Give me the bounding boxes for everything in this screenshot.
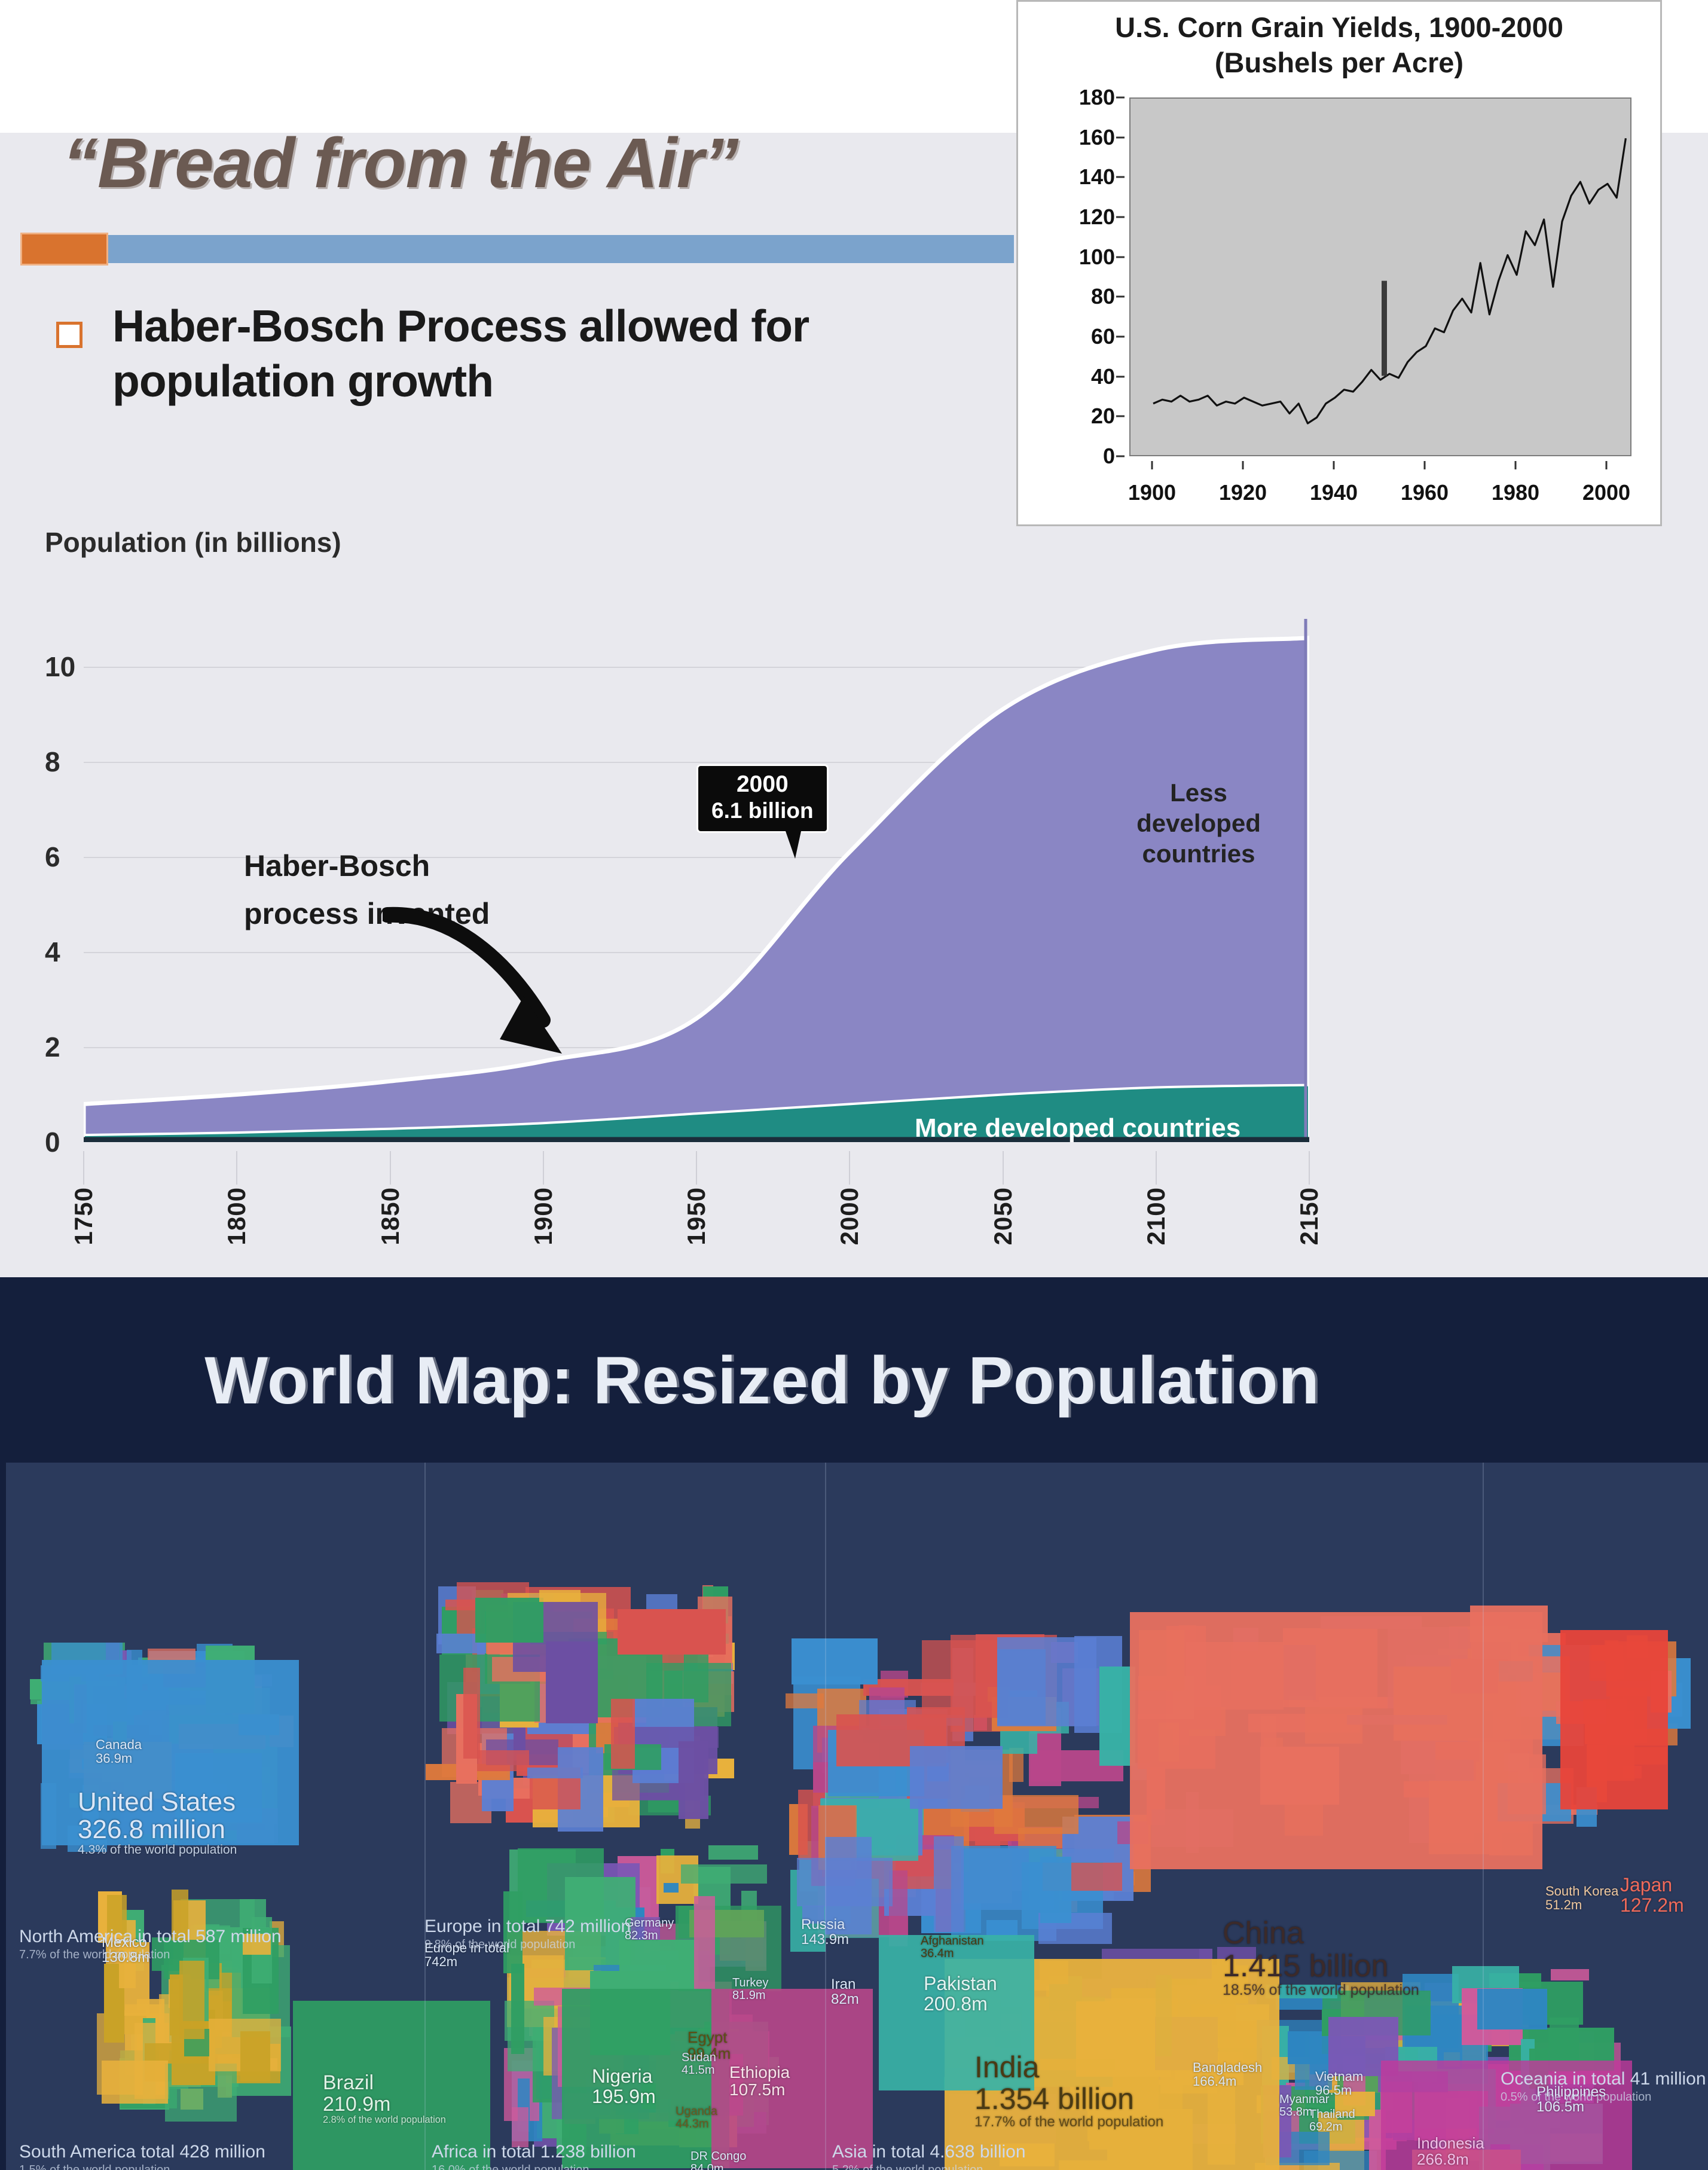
corn-y-tick-label: 100 [1079, 245, 1115, 270]
map-region-divider [424, 1463, 426, 2170]
corn-chart-title-line1: U.S. Corn Grain Yields, 1900-2000 [1115, 11, 1563, 43]
continent-total-share: 0.5% of the world population [1501, 2090, 1706, 2104]
map-country-label: United States326.8 million4.3% of the wo… [78, 1789, 237, 1857]
country-population: 107.5m [729, 2081, 790, 2098]
country-population: 1.354 billion [974, 2083, 1163, 2115]
corn-x-tick [1424, 461, 1426, 469]
title-accent-bar [20, 235, 1014, 263]
country-name: United States [78, 1789, 237, 1816]
continent-total-share: 5.2% of the world population [832, 2163, 1026, 2170]
bullet-text: Haber-Bosch Process allowed for populati… [112, 299, 1033, 408]
country-population-share: 18.5% of the world population [1223, 1982, 1419, 1998]
population-cartogram: United States326.8 million4.3% of the wo… [6, 1463, 1708, 2170]
continent-total-share: 1.5% of the world population [19, 2163, 265, 2170]
corn-chart-subtitle: (Bushels per Acre) [1215, 47, 1463, 78]
country-population: 44.3m [676, 2118, 717, 2131]
corn-y-tick-label: 20 [1091, 404, 1115, 429]
map-region-divider [825, 1463, 826, 2170]
population-x-tick-label: 2100 [1142, 1187, 1171, 1245]
corn-y-tick [1116, 296, 1125, 298]
continent-total-text: North America in total 587 million [19, 1927, 282, 1946]
population-x-tick-label: 2050 [989, 1187, 1018, 1245]
country-population: 84.0m [690, 2163, 746, 2170]
country-name: Turkey [732, 1977, 768, 1989]
map-country-label: Germany82.3m [625, 1917, 674, 1942]
map-country-label: Indonesia266.8m [1417, 2135, 1484, 2168]
world-map-title-bar: World Map: Resized by Population [6, 1277, 1708, 1463]
corn-x-tick [1606, 461, 1608, 469]
country-population: 36.9m [96, 1751, 142, 1765]
corn-y-tick [1116, 136, 1125, 138]
corn-y-tick-label: 140 [1079, 164, 1115, 190]
continent-total-text: Asia in total 4.638 billion [832, 2142, 1026, 2162]
continent-total-text: Africa in total 1.238 billion [432, 2142, 636, 2162]
corn-y-tick [1116, 376, 1125, 377]
country-name: Indonesia [1417, 2135, 1484, 2151]
corn-x-tick-label: 1900 [1128, 480, 1176, 505]
country-name: Nigeria [592, 2067, 656, 2087]
population-x-tick-label: 1750 [69, 1187, 98, 1245]
map-country-label: Uganda44.3m [676, 2105, 717, 2131]
continent-total-text: Oceania in total 41 million [1501, 2069, 1706, 2089]
country-name: Bangladesh [1193, 2061, 1262, 2074]
country-name: Canada [96, 1738, 142, 1751]
corn-y-tick-label: 0 [1103, 444, 1115, 469]
corn-x-tick [1515, 461, 1517, 469]
country-name: Vietnam [1315, 2070, 1363, 2083]
country-population: 127.2m [1620, 1896, 1684, 1916]
map-country-label: Sudan41.5m [682, 2052, 716, 2077]
population-x-tick [1309, 1151, 1310, 1185]
country-population: 36.4m [921, 1948, 984, 1960]
country-name: India [974, 2052, 1163, 2083]
continent-total-text: South America total 428 million [19, 2142, 265, 2162]
country-population-share: 4.3% of the world population [78, 1844, 237, 1857]
corn-plot-area [1129, 97, 1631, 456]
continent-total-text: Europe in total 742 million [424, 1916, 631, 1936]
country-name: DR Congo [690, 2150, 746, 2163]
country-name: Iran [831, 1977, 859, 1992]
population-y-tick-label: 6 [45, 841, 60, 873]
map-country-label: India1.354 billion17.7% of the world pop… [974, 2052, 1163, 2129]
country-population: 82.3m [625, 1930, 674, 1942]
country-population: 195.9m [592, 2087, 656, 2107]
continent-total-share: 9.8% of the world population [424, 1937, 631, 1952]
continent-total-share: 16.0% of the world population [432, 2163, 636, 2170]
country-population: 82m [831, 1992, 859, 2007]
series-label-less-developed: Less developed countries [1112, 777, 1285, 869]
country-population: 210.9m [323, 2094, 446, 2116]
map-country-label: Afghanistan36.4m [921, 1935, 984, 1960]
continent-total-share: 7.7% of the world population [19, 1948, 282, 1962]
continent-total-label: North America in total 587 million7.7% o… [19, 1926, 282, 1962]
population-x-tick-label: 2150 [1295, 1187, 1324, 1245]
country-population: 53.8m [1279, 2106, 1329, 2119]
population-x-tick [236, 1151, 237, 1185]
country-name: Pakistan [924, 1974, 997, 1994]
bullet-marker-icon [56, 322, 83, 348]
population-x-tick-label: 1900 [529, 1187, 558, 1245]
continent-total-label: South America total 428 million1.5% of t… [19, 2141, 265, 2170]
population-axis-title: Population (in billions) [45, 526, 341, 558]
population-x-tick [390, 1151, 391, 1185]
population-y-tick-label: 8 [45, 746, 60, 778]
corn-x-tick-label: 1920 [1219, 480, 1267, 505]
world-map-title: World Map: Resized by Population [6, 1342, 1518, 1419]
corn-x-tick-label: 2000 [1582, 480, 1630, 505]
slide-bread-from-the-air: “Bread from the Air” Haber-Bosch Process… [0, 0, 1708, 1277]
corn-x-tick [1151, 461, 1153, 469]
population-x-tick [1156, 1151, 1157, 1185]
country-population: 326.8 million [78, 1816, 237, 1844]
population-x-tick [83, 1151, 84, 1185]
map-region-divider [1483, 1463, 1484, 2170]
corn-x-axis: 190019201940196019802000 [1129, 461, 1631, 521]
corn-y-tick [1116, 456, 1125, 457]
corn-y-tick-label: 120 [1079, 205, 1115, 230]
corn-y-tick-label: 80 [1091, 284, 1115, 309]
corn-y-tick [1116, 216, 1125, 218]
corn-y-tick-label: 60 [1091, 324, 1115, 349]
corn-y-tick-label: 160 [1079, 125, 1115, 150]
country-population: 166.4m [1193, 2074, 1262, 2088]
corn-y-tick [1116, 256, 1125, 258]
corn-y-tick-label: 40 [1091, 364, 1115, 389]
population-callout: 2000 6.1 billion [696, 764, 829, 833]
country-population: 200.8m [924, 1994, 997, 2015]
map-country-label: South Korea51.2m [1545, 1884, 1618, 1912]
country-name: South Korea [1545, 1884, 1618, 1898]
population-x-tick [543, 1151, 544, 1185]
page-title: “Bread from the Air” [63, 123, 1079, 212]
country-name: Brazil [323, 2073, 446, 2094]
corn-yield-chart: U.S. Corn Grain Yields, 1900-2000 (Bushe… [1016, 0, 1662, 526]
country-name: China [1223, 1917, 1419, 1950]
series-label-more-developed: More developed countries [915, 1113, 1240, 1143]
population-y-tick-label: 10 [45, 651, 75, 683]
continent-total-label: Europe in total 742 million9.8% of the w… [424, 1916, 631, 1952]
map-country-label: Turkey81.9m [732, 1977, 768, 2002]
country-population: 69.2m [1309, 2121, 1355, 2134]
corn-y-tick-label: 180 [1079, 85, 1115, 110]
map-country-label: Japan127.2m [1620, 1875, 1684, 1915]
country-name: Sudan [682, 2052, 716, 2064]
slide-world-map: World Map: Resized by Population United … [0, 1277, 1708, 2170]
population-x-tick [849, 1151, 850, 1185]
corn-y-tick [1116, 97, 1125, 99]
country-population: 742m [424, 1955, 509, 1968]
corn-y-tick [1116, 176, 1125, 178]
country-population: 81.9m [732, 1989, 768, 2002]
corn-y-tick [1116, 416, 1125, 417]
continent-total-label: Africa in total 1.238 billion16.0% of th… [432, 2141, 636, 2170]
presentation-page: “Bread from the Air” Haber-Bosch Process… [0, 0, 1708, 2170]
map-country-label: Ethiopia107.5m [729, 2064, 790, 2099]
population-y-tick-label: 0 [45, 1126, 60, 1158]
map-country-label: Iran82m [831, 1977, 859, 2007]
continent-total-label: Oceania in total 41 million0.5% of the w… [1501, 2068, 1706, 2104]
map-country-label: Bangladesh166.4m [1193, 2061, 1262, 2088]
cartogram-shapes [6, 1463, 1708, 2170]
population-x-tick-label: 1950 [682, 1187, 711, 1245]
country-name: Ethiopia [729, 2064, 790, 2081]
population-x-tick-label: 2000 [835, 1187, 864, 1245]
country-name: Germany [625, 1917, 674, 1930]
haber-bosch-arrow-icon [383, 879, 622, 1082]
corn-x-tick-label: 1940 [1310, 480, 1358, 505]
corn-y-axis: 020406080100120140160180 [1048, 88, 1125, 465]
population-x-axis: 175018001850190019502000205021002150 [84, 1151, 1309, 1277]
map-country-label: China1.415 billion18.5% of the world pop… [1223, 1917, 1419, 1998]
callout-value: 6.1 billion [711, 798, 814, 823]
map-country-label: Pakistan200.8m [924, 1974, 997, 2014]
country-population: 1.415 billion [1223, 1950, 1419, 1983]
map-country-label: Nigeria195.9m [592, 2067, 656, 2107]
country-population: 51.2m [1545, 1898, 1618, 1912]
map-country-label: Myanmar53.8m [1279, 2093, 1329, 2119]
corn-x-tick-label: 1960 [1401, 480, 1449, 505]
map-country-label: DR Congo84.0m [690, 2150, 746, 2170]
country-name: Egypt [688, 2029, 731, 2046]
country-population-share: 2.8% of the world population [323, 2115, 446, 2125]
corn-x-tick [1242, 461, 1244, 469]
country-population: 266.8m [1417, 2151, 1484, 2168]
corn-y-tick [1116, 336, 1125, 338]
continent-total-label: Asia in total 4.638 billion5.2% of the w… [832, 2141, 1026, 2170]
country-name: Afghanistan [921, 1935, 984, 1948]
corn-x-tick-label: 1980 [1492, 480, 1539, 505]
population-x-tick [696, 1151, 697, 1185]
country-name: Myanmar [1279, 2093, 1329, 2106]
country-name: Uganda [676, 2105, 717, 2118]
corn-line-series [1130, 99, 1630, 455]
country-population-share: 17.7% of the world population [974, 2114, 1163, 2129]
country-name: Japan [1620, 1875, 1684, 1896]
callout-year: 2000 [737, 771, 789, 797]
population-y-tick-label: 4 [45, 936, 60, 968]
country-population: 41.5m [682, 2064, 716, 2077]
population-y-tick-label: 2 [45, 1031, 60, 1063]
title-accent-square [20, 233, 108, 265]
population-x-tick-label: 1850 [376, 1187, 405, 1245]
population-x-tick-label: 1800 [222, 1187, 251, 1245]
map-country-label: Canada36.9m [96, 1738, 142, 1765]
map-country-label: Brazil210.9m2.8% of the world population [323, 2073, 446, 2126]
population-x-tick [1003, 1151, 1004, 1185]
corn-x-tick [1333, 461, 1335, 469]
corn-chart-title: U.S. Corn Grain Yields, 1900-2000 (Bushe… [1018, 10, 1660, 81]
